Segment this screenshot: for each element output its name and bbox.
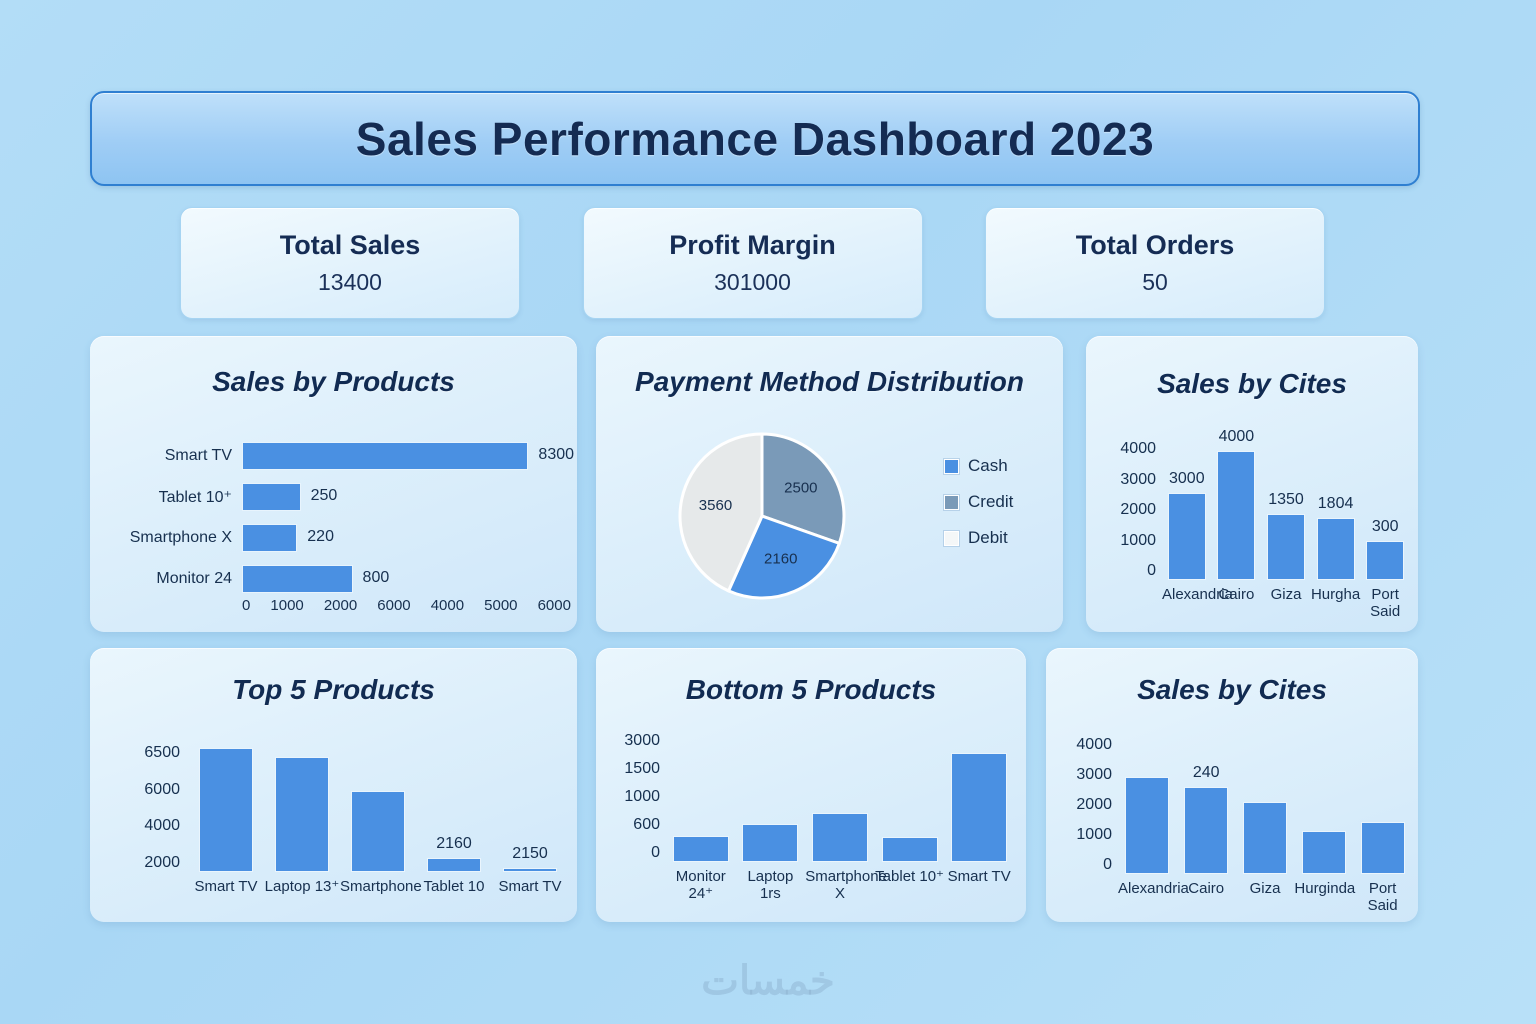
x-tick-label: 6000 xyxy=(538,597,571,614)
bar[interactable] xyxy=(1168,493,1206,580)
bar-row: Monitor 24800 xyxy=(90,565,577,593)
x-tick-label: Giza xyxy=(1261,586,1311,621)
bar-column xyxy=(188,744,264,872)
y-tick-label: 2000 xyxy=(144,854,180,872)
x-axis-ticks: 0100020006000400050006000 xyxy=(242,597,571,614)
bar-track: 800 xyxy=(242,565,577,593)
bar-row: Tablet 10⁺250 xyxy=(90,483,577,511)
bar-column: 300 xyxy=(1360,440,1410,580)
bar[interactable] xyxy=(1184,787,1228,874)
chart-top-5-products: 650060004000200021602150Smart TVLaptop 1… xyxy=(90,648,577,922)
legend-swatch-icon xyxy=(944,495,959,510)
y-tick-label: 4000 xyxy=(1120,440,1156,458)
bar[interactable] xyxy=(882,837,938,862)
x-tick-label: 4000 xyxy=(431,597,464,614)
bar[interactable] xyxy=(951,753,1007,862)
y-tick-label: 6500 xyxy=(144,744,180,762)
kpi-card-total-sales[interactable]: Total Sales 13400 xyxy=(180,207,520,319)
bar[interactable] xyxy=(1366,541,1404,580)
bar-fill[interactable] xyxy=(242,483,301,511)
bar-row: Smart TV8300 xyxy=(90,442,577,470)
kpi-value: 50 xyxy=(1142,269,1168,296)
bar[interactable] xyxy=(673,836,729,862)
bar-column: 4000 xyxy=(1212,440,1262,580)
pie-slice-label: 2160 xyxy=(764,551,797,568)
y-tick-label: 1500 xyxy=(624,760,660,778)
bar-column xyxy=(1118,736,1177,874)
x-tick-label: Smart TV xyxy=(944,868,1014,903)
legend-swatch-icon xyxy=(944,531,959,546)
bar-category-label: Tablet 10⁺ xyxy=(90,487,242,507)
x-tick-label: Smartphone xyxy=(340,878,416,895)
plot-area xyxy=(666,732,1014,862)
legend-item[interactable]: Credit xyxy=(944,492,1013,512)
bar-column xyxy=(875,732,945,862)
x-tick-label: Monitor 24⁺ xyxy=(666,868,736,903)
bar[interactable] xyxy=(1302,831,1346,874)
bar-column: 2160 xyxy=(416,744,492,872)
bar-column xyxy=(736,732,806,862)
bar-column: 1804 xyxy=(1311,440,1361,580)
bar-track: 8300 xyxy=(242,442,577,470)
x-axis-labels: Monitor 24⁺Laptop1rsSmartphone XTablet 1… xyxy=(666,868,1014,903)
y-axis: 6500600040002000 xyxy=(114,744,180,872)
bar-column xyxy=(1236,736,1295,874)
bar[interactable] xyxy=(351,791,405,872)
legend-label: Credit xyxy=(968,492,1013,512)
kpi-card-profit-margin[interactable]: Profit Margin 301000 xyxy=(583,207,923,319)
bar[interactable] xyxy=(1243,802,1287,874)
dashboard-header: Sales Performance Dashboard 2023 xyxy=(90,91,1420,186)
y-tick-label: 4000 xyxy=(1076,736,1112,754)
bar-column xyxy=(1294,736,1353,874)
pie-legend: CashCreditDebit xyxy=(944,456,1013,548)
bar-row: Smartphone X220 xyxy=(90,524,577,552)
bar-category-label: Smartphone X xyxy=(90,529,242,547)
bar[interactable] xyxy=(1217,451,1255,580)
y-tick-label: 0 xyxy=(1147,562,1156,580)
bar-category-label: Smart TV xyxy=(90,447,242,465)
x-tick-label: Smart TV xyxy=(188,878,264,895)
bar-column: 2150 xyxy=(492,744,568,872)
bar[interactable] xyxy=(812,813,868,862)
kpi-row: Total Sales 13400 Profit Margin 301000 T… xyxy=(180,207,1325,319)
bar-fill[interactable] xyxy=(242,565,353,593)
chart-bottom-5-products: 3000150010006000Monitor 24⁺Laptop1rsSmar… xyxy=(596,648,1026,922)
y-axis: 40003000200010000 xyxy=(1054,736,1112,874)
bar-value-label: 2150 xyxy=(512,845,548,863)
kpi-label: Total Orders xyxy=(1076,230,1235,261)
x-tick-label: Hurginda xyxy=(1294,880,1353,915)
page-title: Sales Performance Dashboard 2023 xyxy=(356,112,1154,166)
y-tick-label: 1000 xyxy=(624,788,660,806)
bar-column: 240 xyxy=(1177,736,1236,874)
y-tick-label: 1000 xyxy=(1120,532,1156,550)
x-tick-label: 1000 xyxy=(270,597,303,614)
bar-value-label: 250 xyxy=(311,487,338,505)
bar[interactable] xyxy=(199,748,253,872)
bar-column xyxy=(1353,736,1412,874)
x-tick-label: Tablet 10⁺ xyxy=(875,868,945,903)
watermark: خمسات xyxy=(0,958,1536,1004)
legend-item[interactable]: Debit xyxy=(944,528,1013,548)
x-tick-label: Alexandria xyxy=(1162,586,1212,621)
plot-area: 3000400013501804300 xyxy=(1162,440,1410,580)
bar[interactable] xyxy=(427,858,481,872)
x-tick-label: Hurgha xyxy=(1311,586,1361,621)
panel-payment-method-distribution: Payment Method Distribution 250021603560… xyxy=(596,336,1063,632)
x-tick-label: Smartphone X xyxy=(805,868,875,903)
bar-column: 1350 xyxy=(1261,440,1311,580)
bar-column xyxy=(805,732,875,862)
chart-payment-method-pie: 250021603560 xyxy=(674,428,850,604)
plot-area: 240 xyxy=(1118,736,1412,874)
y-tick-label: 1000 xyxy=(1076,826,1112,844)
bar-value-label: 8300 xyxy=(538,446,574,464)
chart-title-sales-by-products: Sales by Products xyxy=(90,366,577,398)
y-tick-label: 600 xyxy=(633,816,660,834)
y-tick-label: 2000 xyxy=(1076,796,1112,814)
panel-top-5-products: Top 5 Products 650060004000200021602150S… xyxy=(90,648,577,922)
x-tick-label: Cairo xyxy=(1177,880,1236,915)
x-tick-label: Alexandria xyxy=(1118,880,1177,915)
y-tick-label: 0 xyxy=(651,844,660,862)
bar-value-label: 240 xyxy=(1193,764,1220,782)
y-tick-label: 2000 xyxy=(1120,501,1156,519)
bar[interactable] xyxy=(1361,822,1405,874)
x-axis-labels: AlexandriaCairoGizaHurgindaPort Said xyxy=(1118,880,1412,915)
y-tick-label: 3000 xyxy=(1120,471,1156,489)
x-tick-label: Port Said xyxy=(1353,880,1412,915)
pie-slice-label: 3560 xyxy=(699,497,732,514)
chart-sales-by-cites-top: 400030002000100003000400013501804300Alex… xyxy=(1086,336,1418,632)
legend-swatch-icon xyxy=(944,459,959,474)
x-tick-label: Smart TV xyxy=(492,878,568,895)
x-tick-label: Port Said xyxy=(1360,586,1410,621)
y-tick-label: 6000 xyxy=(144,781,180,799)
bar-value-label: 220 xyxy=(307,528,334,546)
legend-label: Debit xyxy=(968,528,1008,548)
x-tick-label: Laptop1rs xyxy=(736,868,806,903)
legend-item[interactable]: Cash xyxy=(944,456,1013,476)
panel-bottom-5-products: Bottom 5 Products 3000150010006000Monito… xyxy=(596,648,1026,922)
x-axis-labels: Smart TVLaptop 13⁺SmartphoneTablet 10Sma… xyxy=(188,878,568,895)
panel-sales-by-products: Sales by Products Smart TV8300Tablet 10⁺… xyxy=(90,336,577,632)
bar-column xyxy=(340,744,416,872)
bar-column xyxy=(264,744,340,872)
bar-value-label: 800 xyxy=(363,569,390,587)
kpi-label: Profit Margin xyxy=(669,230,836,261)
x-axis-labels: AlexandriaCairoGizaHurghaPort Said xyxy=(1162,586,1410,621)
bar-track: 220 xyxy=(242,524,577,552)
y-axis: 3000150010006000 xyxy=(602,732,660,862)
plot-area: 21602150 xyxy=(188,744,568,872)
x-tick-label: Tablet 10 xyxy=(416,878,492,895)
bar[interactable] xyxy=(1125,777,1169,874)
x-tick-label: Cairo xyxy=(1212,586,1262,621)
bar-category-label: Monitor 24 xyxy=(90,570,242,588)
x-tick-label: 6000 xyxy=(377,597,410,614)
y-tick-label: 3000 xyxy=(1076,766,1112,784)
pie-slice-label: 2500 xyxy=(784,480,817,497)
x-tick-label: 2000 xyxy=(324,597,357,614)
chart-title-payment-method: Payment Method Distribution xyxy=(596,366,1063,398)
panel-sales-by-cites-top: Sales by Cites 4000300020001000030004000… xyxy=(1086,336,1418,632)
bar-value-label: 4000 xyxy=(1219,428,1255,446)
panel-sales-by-cites-bottom: Sales by Cites 40003000200010000240Alexa… xyxy=(1046,648,1418,922)
bar[interactable] xyxy=(1267,514,1305,580)
bar-value-label: 300 xyxy=(1372,518,1399,536)
bar[interactable] xyxy=(275,757,329,872)
kpi-label: Total Sales xyxy=(280,230,421,261)
kpi-value: 13400 xyxy=(318,269,382,296)
kpi-card-total-orders[interactable]: Total Orders 50 xyxy=(985,207,1325,319)
bar-column: 3000 xyxy=(1162,440,1212,580)
x-tick-label: Laptop 13⁺ xyxy=(264,878,340,895)
legend-label: Cash xyxy=(968,456,1008,476)
y-axis: 40003000200010000 xyxy=(1100,440,1156,580)
bar-column xyxy=(944,732,1014,862)
y-tick-label: 3000 xyxy=(624,732,660,750)
bar-value-label: 3000 xyxy=(1169,470,1205,488)
bar-value-label: 1804 xyxy=(1318,495,1354,513)
bar[interactable] xyxy=(742,824,798,862)
y-tick-label: 0 xyxy=(1103,856,1112,874)
chart-sales-by-cites-bottom: 40003000200010000240AlexandriaCairoGizaH… xyxy=(1046,648,1418,922)
dashboard-root: Sales Performance Dashboard 2023 Total S… xyxy=(0,0,1536,1024)
bar-fill[interactable] xyxy=(242,524,297,552)
bar-track: 250 xyxy=(242,483,577,511)
bar[interactable] xyxy=(1317,518,1355,580)
bar-value-label: 2160 xyxy=(436,835,472,853)
x-tick-label: 0 xyxy=(242,597,250,614)
chart-sales-by-products: Smart TV8300Tablet 10⁺250Smartphone X220… xyxy=(90,420,577,592)
x-tick-label: 5000 xyxy=(484,597,517,614)
bar-value-label: 1350 xyxy=(1268,491,1304,509)
x-tick-label: Giza xyxy=(1236,880,1295,915)
bar-column xyxy=(666,732,736,862)
bar[interactable] xyxy=(503,868,557,872)
y-tick-label: 4000 xyxy=(144,817,180,835)
kpi-value: 301000 xyxy=(714,269,791,296)
bar-fill[interactable] xyxy=(242,442,528,470)
